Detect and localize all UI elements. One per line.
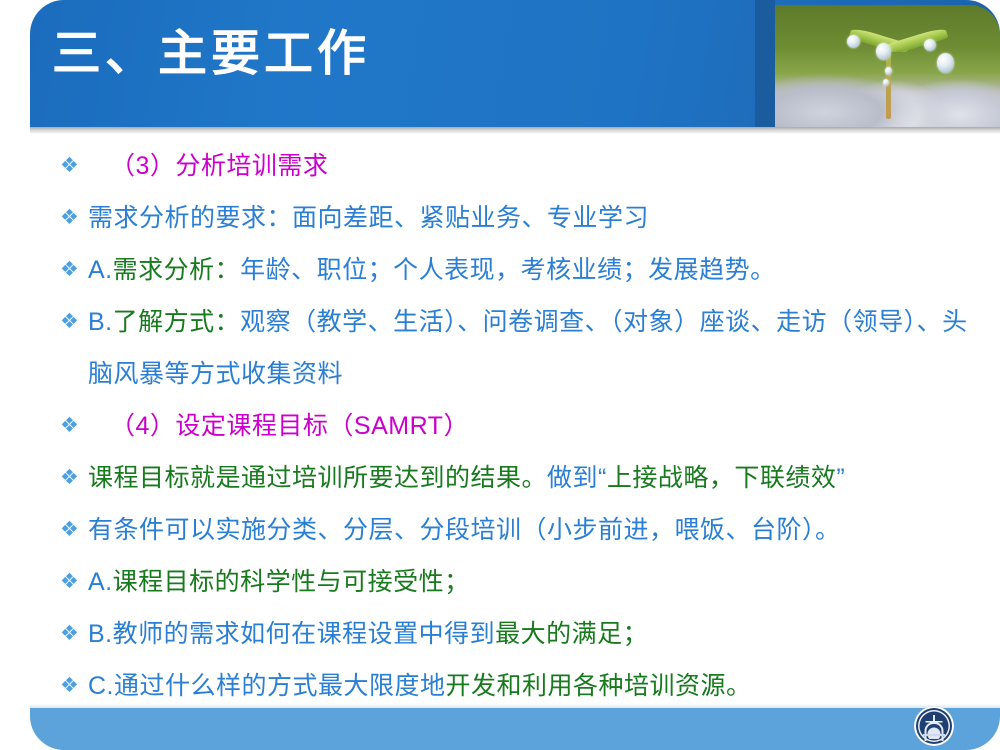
text-segment: 教师的需求如何在课程设置中得到 xyxy=(113,620,496,648)
text-segment: （3）分析培训需求 xyxy=(110,152,328,180)
bullet-text: B.教师的需求如何在课程设置中得到最大的满足； xyxy=(88,608,974,660)
bullet-diamond-icon: ❖ xyxy=(60,400,88,452)
bullet-diamond-icon: ❖ xyxy=(60,244,88,296)
bullet-text: 有条件可以实施分类、分层、分段培训（小步前进，喂饭、台阶）。 xyxy=(88,504,974,556)
bullet-diamond-icon: ❖ xyxy=(60,452,88,504)
bullet-diamond-icon: ❖ xyxy=(60,504,88,556)
text-segment: 课程目标就是通过培训所要达到的结果。 xyxy=(88,464,547,492)
dew-drop xyxy=(937,53,954,73)
logo-base xyxy=(923,734,945,736)
text-segment: A. xyxy=(88,256,113,284)
text-segment: 目标的科学性与可接受性； xyxy=(164,568,470,596)
text-segment: 开发和利用各种培训资源。 xyxy=(446,672,752,700)
text-segment: 课程 xyxy=(113,568,164,596)
text-segment: A. xyxy=(88,568,113,596)
bullet-item: ❖（3）分析培训需求 xyxy=(0,140,1000,192)
bottom-bar xyxy=(30,708,1000,750)
logo-ring xyxy=(918,710,950,742)
text-segment: 需求分析的要求：面向差距、紧贴业务、专业学习 xyxy=(88,204,649,232)
bullet-text: B.了解方式：观察（教学、生活）、问卷调查、（对象）座谈、走访（领导）、头脑风暴… xyxy=(88,296,974,400)
slide: 三、主要工作 ❖（3）分析培训需求❖需求分析的要求：面向差距、紧贴业务、专业学习… xyxy=(0,0,1000,750)
bullet-item: ❖B.教师的需求如何在课程设置中得到最大的满足； xyxy=(0,608,1000,660)
bullet-text: （4）设定课程目标（SAMRT） xyxy=(88,400,974,452)
bullet-item: ❖有条件可以实施分类、分层、分段培训（小步前进，喂饭、台阶）。 xyxy=(0,504,1000,556)
text-segment: 需求分析： xyxy=(113,256,241,284)
bullet-diamond-icon: ❖ xyxy=(60,192,88,244)
text-segment: 做到 xyxy=(547,464,598,492)
bullet-diamond-icon: ❖ xyxy=(60,296,88,348)
university-seal-logo xyxy=(914,706,954,746)
page-title: 三、主要工作 xyxy=(52,30,370,79)
text-segment: B. xyxy=(88,620,113,648)
text-segment: 上接战略，下联绩效 xyxy=(607,464,837,492)
dew-drop xyxy=(883,79,889,86)
banner-photo xyxy=(775,5,1000,127)
bullet-item: ❖课程目标就是通过培训所要达到的结果。做到“上接战略，下联绩效” xyxy=(0,452,1000,504)
text-segment: 通过什么样的方式最大限度地 xyxy=(114,672,446,700)
banner-photo-edge xyxy=(755,0,775,127)
bullet-text: 课程目标就是通过培训所要达到的结果。做到“上接战略，下联绩效” xyxy=(88,452,974,504)
dew-drop xyxy=(847,35,860,48)
bullet-item: ❖A.课程目标的科学性与可接受性； xyxy=(0,556,1000,608)
bullet-text: A.课程目标的科学性与可接受性； xyxy=(88,556,974,608)
title-banner-shadow xyxy=(30,127,1000,134)
text-segment: C. xyxy=(88,672,114,700)
bullet-item: ❖B.了解方式：观察（教学、生活）、问卷调查、（对象）座谈、走访（领导）、头脑风… xyxy=(0,296,1000,400)
text-segment: 了解方式： xyxy=(113,308,241,336)
bullet-item: ❖A.需求分析：年龄、职位；个人表现，考核业绩；发展趋势。 xyxy=(0,244,1000,296)
bullet-text: （3）分析培训需求 xyxy=(88,140,974,192)
bullet-text: A.需求分析：年龄、职位；个人表现，考核业绩；发展趋势。 xyxy=(88,244,974,296)
title-banner: 三、主要工作 xyxy=(30,0,1000,127)
text-segment: （4）设定课程目标（SAMRT） xyxy=(110,412,469,440)
bullet-item: ❖需求分析的要求：面向差距、紧贴业务、专业学习 xyxy=(0,192,1000,244)
bullet-diamond-icon: ❖ xyxy=(60,608,88,660)
bullet-list: ❖（3）分析培训需求❖需求分析的要求：面向差距、紧贴业务、专业学习❖A.需求分析… xyxy=(0,140,1000,705)
dew-drop xyxy=(924,39,936,51)
text-segment: 最大的满足； xyxy=(495,620,648,648)
bullet-diamond-icon: ❖ xyxy=(60,140,88,192)
text-segment: “ xyxy=(598,464,607,492)
text-segment: ” xyxy=(836,464,845,492)
bullet-item: ❖（4）设定课程目标（SAMRT） xyxy=(0,400,1000,452)
text-segment: B. xyxy=(88,308,113,336)
logo-arch xyxy=(925,722,944,741)
text-segment: 有条件可以实施分类、分层、分段培训（小步前进，喂饭、台阶）。 xyxy=(88,516,841,544)
bullet-diamond-icon: ❖ xyxy=(60,556,88,608)
text-segment: 年龄、职位；个人表现，考核业绩；发展趋势。 xyxy=(240,256,776,284)
bullet-text: 需求分析的要求：面向差距、紧贴业务、专业学习 xyxy=(88,192,974,244)
